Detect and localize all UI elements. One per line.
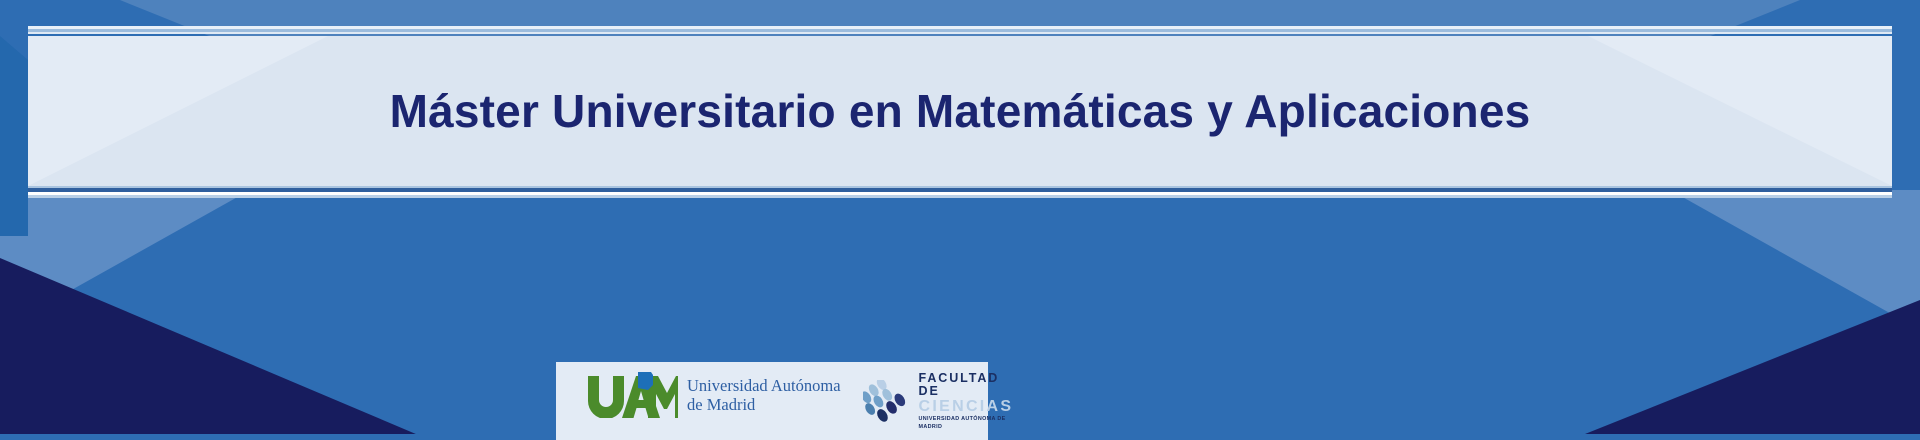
slide-header: Máster Universitario en Matemáticas y Ap… — [0, 0, 1920, 440]
facultad-line-3: UNIVERSIDAD AUTÓNOMA DE MADRID — [919, 415, 1014, 431]
facultad-wordmark: FACULTAD DE CIENCIAS UNIVERSIDAD AUTÓNOM… — [919, 372, 1014, 431]
uam-monogram-icon — [586, 372, 678, 418]
page-title: Máster Universitario en Matemáticas y Ap… — [28, 36, 1892, 186]
facultad-ciencias-logo[interactable]: FACULTAD DE CIENCIAS UNIVERSIDAD AUTÓNOM… — [863, 372, 1014, 431]
title-banner: Máster Universitario en Matemáticas y Ap… — [28, 26, 1892, 198]
uam-logo[interactable]: Universidad Autónoma de Madrid — [586, 372, 841, 418]
banner-rule-bottom-outer — [28, 195, 1892, 198]
logo-strip: Universidad Autónoma de Madrid — [556, 362, 988, 440]
banner-face: Máster Universitario en Matemáticas y Ap… — [28, 36, 1892, 186]
uam-wordmark: Universidad Autónoma de Madrid — [687, 376, 841, 414]
facultad-line-2: CIENCIAS — [919, 398, 1014, 415]
uam-name-line-1: Universidad Autónoma — [687, 376, 841, 395]
uam-name-line-2: de Madrid — [687, 395, 841, 414]
molecule-cluster-icon — [863, 380, 911, 424]
facultad-line-1: FACULTAD DE — [919, 372, 1014, 398]
banner-rule-top-inner — [28, 32, 1892, 34]
